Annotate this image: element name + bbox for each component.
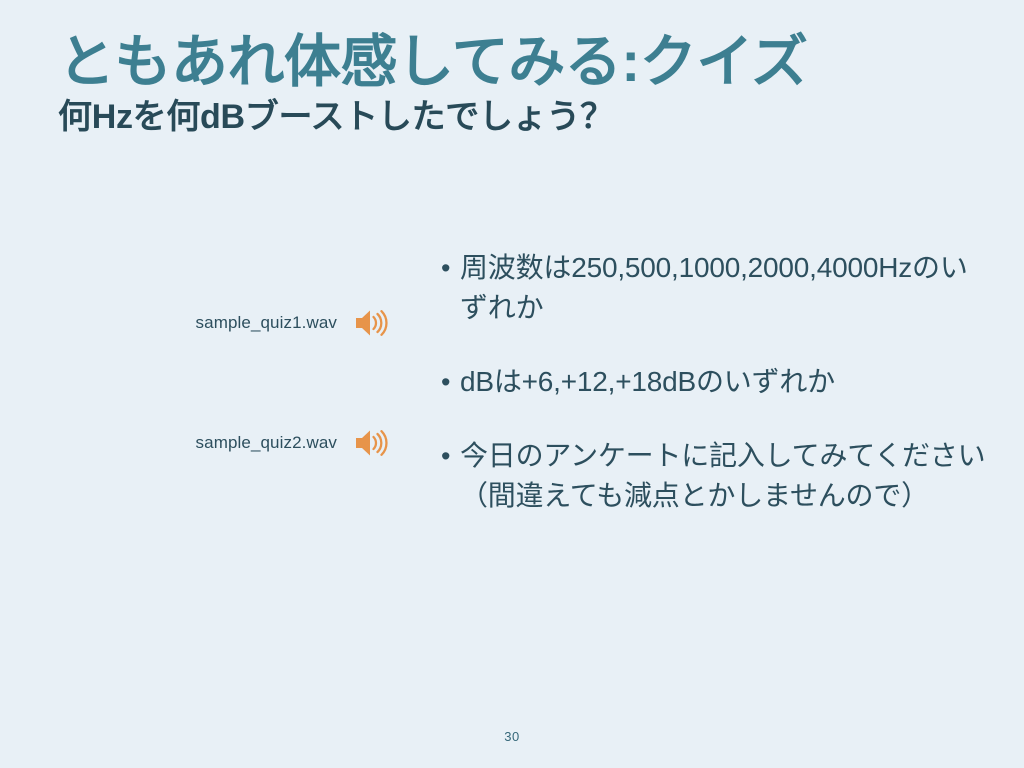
slide-header: ともあれ体感してみる:クイズ 何Hzを何dBブーストしたでしょう？ <box>58 32 978 137</box>
list-item: • 周波数は250,500,1000,2000,4000Hzのいずれか <box>432 248 992 328</box>
list-item: • dBは+6,+12,+18dBのいずれか <box>432 362 992 402</box>
speaker-icon[interactable] <box>354 428 388 458</box>
bullet-marker-icon: • <box>432 248 460 288</box>
bullet-marker-icon: • <box>432 436 460 476</box>
bullet-text: dBは+6,+12,+18dBのいずれか <box>460 362 992 402</box>
bullet-text: 今日のアンケートに記入してみてください（間違えても減点とかしませんので） <box>460 436 992 516</box>
list-item: • 今日のアンケートに記入してみてください（間違えても減点とかしませんので） <box>432 436 992 516</box>
page-subtitle: 何Hzを何dBブーストしたでしょう？ <box>58 98 978 137</box>
bullet-marker-icon: • <box>432 362 460 402</box>
page-number: 30 <box>0 729 1024 744</box>
slide-canvas: ともあれ体感してみる:クイズ 何Hzを何dBブーストしたでしょう？ sample… <box>0 0 1024 768</box>
page-title: ともあれ体感してみる:クイズ <box>58 32 978 94</box>
bullet-text: 周波数は250,500,1000,2000,4000Hzのいずれか <box>460 248 992 328</box>
audio-sample-list: sample_quiz1.wav sample_quiz2.wav <box>100 300 400 540</box>
bullet-list: • 周波数は250,500,1000,2000,4000Hzのいずれか • dB… <box>432 248 992 550</box>
audio-sample-label: sample_quiz1.wav <box>196 313 337 333</box>
audio-sample-label: sample_quiz2.wav <box>196 433 337 453</box>
speaker-icon[interactable] <box>354 308 388 338</box>
audio-sample-item[interactable]: sample_quiz1.wav <box>100 300 400 346</box>
audio-sample-item[interactable]: sample_quiz2.wav <box>100 420 400 466</box>
